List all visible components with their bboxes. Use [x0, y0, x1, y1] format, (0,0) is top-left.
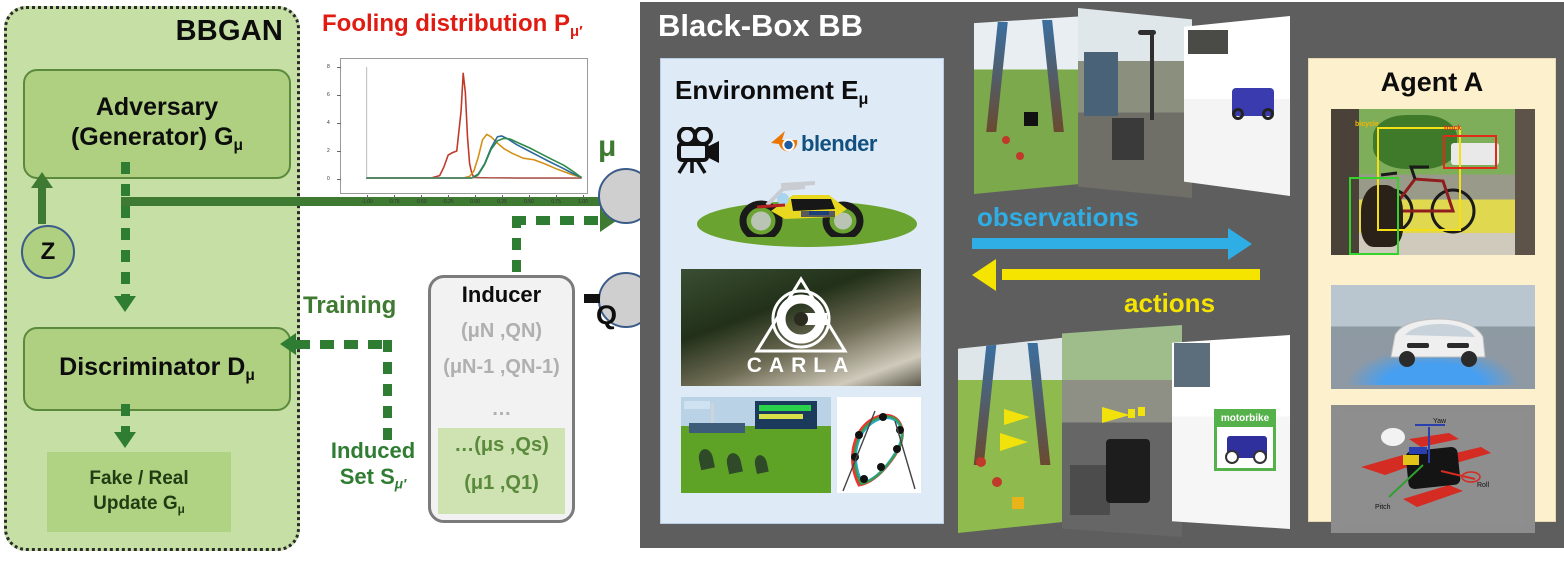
- discriminator-label: Discriminator Dμ: [59, 353, 255, 385]
- carla-logo-icon: [749, 273, 853, 359]
- chart-xtick-label: -1.00: [361, 199, 372, 205]
- observation-tiles-top: [968, 8, 1288, 198]
- discriminator-box: Discriminator Dμ: [23, 327, 291, 411]
- inducer-title: Inducer: [431, 282, 572, 308]
- figure-canvas: BBGAN Adversary (Generator) Gμ Z Discrim…: [0, 0, 1564, 561]
- inducer-row-n1: (μN-1 ,QN-1): [431, 356, 572, 379]
- bbgan-panel: BBGAN Adversary (Generator) Gμ Z Discrim…: [4, 6, 300, 551]
- chart-xtick-label: 0.50: [524, 199, 534, 205]
- blender-wordmark: blender: [801, 131, 877, 157]
- z-to-adversary-line: [38, 188, 46, 224]
- environment-scene: blender: [669, 119, 937, 259]
- discriminator-to-fakereal-arrowhead: [114, 432, 136, 448]
- environment-panel: Environment Eμ blender: [660, 58, 944, 524]
- environment-title-subscript: μ: [858, 90, 868, 108]
- fake-real-line2: Update Gμ: [93, 491, 185, 518]
- obs-tile-grass-gate-attacked: [958, 337, 1070, 533]
- chart-xtick-label: -0.50: [415, 199, 426, 205]
- agent-panel: Agent A bicycle truck: [1308, 58, 1556, 522]
- bbox-label-bicycle: bicycle: [1355, 121, 1379, 128]
- fooling-distribution-chart: -1.00-0.75-0.50-0.250.000.250.500.751.00…: [340, 58, 588, 194]
- induced-set-label: Induced Set Sμ′: [318, 438, 428, 492]
- adversary-to-discriminator-arrowhead: [114, 296, 136, 312]
- mu-label: μ: [598, 130, 616, 164]
- induced-set-subscript: μ′: [395, 476, 406, 491]
- actions-arrow-head: [972, 259, 996, 291]
- bbox-dog: [1349, 177, 1399, 255]
- chart-tick-layer: -1.00-0.75-0.50-0.250.000.250.500.751.00…: [341, 59, 589, 195]
- chart-ytick-mark: [337, 95, 341, 96]
- observations-arrow-shaft: [972, 238, 1230, 249]
- actions-arrow-shaft: [1002, 269, 1260, 280]
- agent-detection-image: bicycle truck: [1331, 109, 1535, 255]
- adversary-subscript: μ: [234, 137, 243, 154]
- drone-axis-roll: Roll: [1477, 482, 1490, 489]
- chart-ytick-label: 8: [327, 64, 330, 70]
- mu-to-inducer-horizontal: [512, 216, 608, 225]
- chart-ytick-mark: [337, 151, 341, 152]
- inducer-row-s: …(μs ,Qs): [431, 434, 572, 457]
- obs-tile-motorbike-detection: motorbike: [1172, 335, 1290, 529]
- observations-arrow-head: [1228, 228, 1252, 260]
- car-shape: [1385, 313, 1489, 369]
- discriminator-subscript: μ: [245, 367, 254, 384]
- chart-ytick-label: 0: [327, 176, 330, 182]
- drone-shape: Yaw Roll Pitch: [1341, 413, 1525, 525]
- inducer-row-1: (μ1 ,Q1): [431, 472, 572, 495]
- mu-to-inducer-vertical: [512, 216, 521, 278]
- actions-label: actions: [1124, 288, 1215, 319]
- training-arrowhead: [280, 333, 296, 355]
- fake-real-line1: Fake / Real: [89, 466, 188, 492]
- chart-ytick-label: 2: [327, 148, 330, 154]
- chart-ytick-mark: [337, 123, 341, 124]
- inducer-box: Inducer (μN ,QN) (μN-1 ,QN-1) … …(μs ,Qs…: [428, 275, 575, 523]
- observations-label: observations: [977, 202, 1139, 233]
- chart-xtick-label: 1.00: [578, 199, 588, 205]
- q-label: Q: [596, 300, 617, 331]
- chart-ytick-mark: [337, 67, 341, 68]
- chart-title: Fooling distribution Pμ′: [322, 10, 583, 40]
- z-to-adversary-arrowhead: [31, 172, 53, 188]
- carla-wordmark: CARLA: [681, 354, 921, 378]
- observation-tiles-bottom: motorbike: [954, 325, 1300, 537]
- trajectory-svg: [837, 397, 921, 493]
- obs-tile-urban-street: [1078, 8, 1192, 198]
- obs-tile-white-motorbike: [1184, 16, 1290, 196]
- bbox-truck: [1443, 135, 1497, 169]
- chart-ytick-label: 4: [327, 120, 330, 126]
- chart-ytick-mark: [337, 179, 341, 180]
- inducer-row-n: (μN ,QN): [431, 320, 572, 343]
- bbgan-title: BBGAN: [176, 15, 283, 48]
- carla-simulator-screenshot: CARLA: [681, 269, 921, 386]
- chart-title-subscript: μ′: [570, 24, 583, 40]
- movie-camera-icon: [673, 127, 725, 177]
- chart-xtick-label: 0.25: [497, 199, 507, 205]
- chart-xtick-label: -0.75: [388, 199, 399, 205]
- obs-tile-grass-gate: [974, 16, 1086, 194]
- drone-axis-pitch: Pitch: [1375, 504, 1391, 511]
- black-box-title: Black-Box BB: [658, 8, 863, 44]
- training-horizontal-line: [296, 340, 391, 349]
- adversary-generator-box: Adversary (Generator) Gμ: [23, 69, 291, 179]
- bbox-label-truck: truck: [1444, 125, 1461, 132]
- drone-axis-yaw: Yaw: [1433, 418, 1447, 425]
- fake-real-update-box: Fake / Real Update Gμ: [47, 452, 231, 532]
- obs-tile-urban-street-attacked: [1062, 325, 1182, 537]
- training-vertical-line: [383, 340, 392, 450]
- chart-xtick-label: -0.25: [442, 199, 453, 205]
- agent-drone-image: Yaw Roll Pitch: [1331, 405, 1535, 533]
- chart-ytick-label: 6: [327, 92, 330, 98]
- agent-autonomous-car-image: [1331, 285, 1535, 389]
- chart-xtick-label: 0.75: [551, 199, 561, 205]
- blender-logo-icon: [769, 127, 801, 157]
- drone-trajectory-plot: [837, 397, 921, 493]
- fake-real-subscript: μ: [178, 503, 185, 516]
- adversary-line2: (Generator) Gμ: [71, 122, 243, 156]
- motorbike-detection-label: motorbike: [1214, 409, 1276, 427]
- environment-title: Environment Eμ: [675, 75, 868, 109]
- drone-race-simulator-screenshot: [681, 397, 831, 493]
- adversary-line1: Adversary: [96, 92, 218, 122]
- inducer-row-dots: …: [431, 398, 572, 421]
- training-label: Training: [303, 292, 396, 320]
- motorbike-3d-render: [731, 165, 871, 237]
- adversary-to-discriminator-line: [121, 162, 130, 298]
- chart-xtick-label: 0.00: [470, 199, 480, 205]
- agent-title: Agent A: [1309, 67, 1555, 98]
- z-node: Z: [21, 225, 75, 279]
